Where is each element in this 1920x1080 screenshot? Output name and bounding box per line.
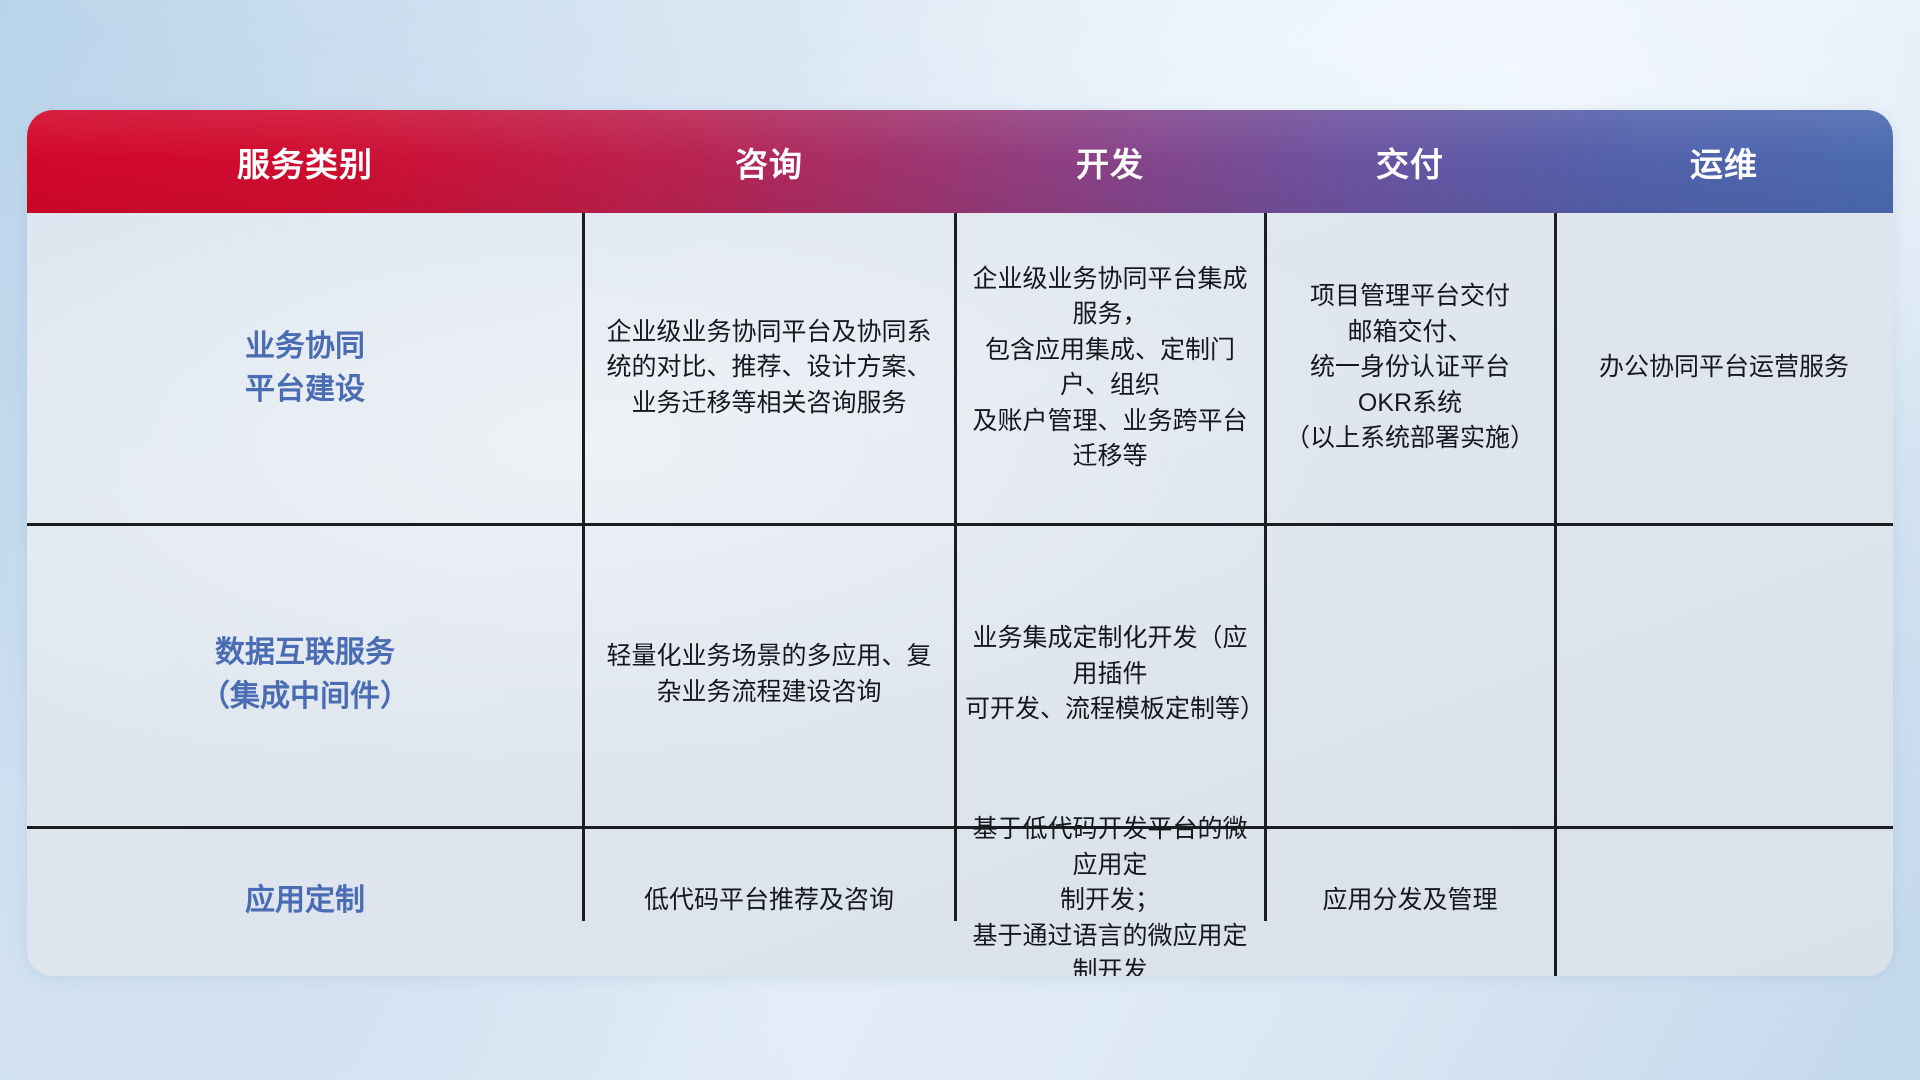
table-body: 业务协同 平台建设企业级业务协同平台及协同系 统的对比、推荐、设计方案、 业务迁… xyxy=(27,213,1893,976)
service-matrix-table: 服务类别咨询开发交付运维 业务协同 平台建设企业级业务协同平台及协同系 统的对比… xyxy=(27,110,1893,976)
row-label-1: 业务协同 平台建设 xyxy=(27,213,583,523)
column-header-delivery: 交付 xyxy=(1265,110,1555,213)
cell-delivery-row3: 应用分发及管理 xyxy=(1265,826,1555,976)
cell-consulting-row2: 轻量化业务场景的多应用、复 杂业务流程建设咨询 xyxy=(583,523,955,826)
column-header-operations: 运维 xyxy=(1555,110,1893,213)
table-header-row: 服务类别咨询开发交付运维 xyxy=(27,110,1893,213)
cell-operations-row1: 办公协同平台运营服务 xyxy=(1555,213,1893,523)
cell-development-row3: 基于低代码开发平台的微应用定 制开发； 基于通过语言的微应用定制开发 xyxy=(955,826,1265,976)
cell-development-row1: 企业级业务协同平台集成服务， 包含应用集成、定制门户、组织 及账户管理、业务跨平… xyxy=(955,213,1265,523)
column-header-development: 开发 xyxy=(955,110,1265,213)
column-header-consulting: 咨询 xyxy=(583,110,955,213)
cell-consulting-row1: 企业级业务协同平台及协同系 统的对比、推荐、设计方案、 业务迁移等相关咨询服务 xyxy=(583,213,955,523)
row-label-2: 数据互联服务 （集成中间件） xyxy=(27,523,583,826)
cell-development-row2: 业务集成定制化开发（应用插件 可开发、流程模板定制等） xyxy=(955,523,1265,826)
column-header-category: 服务类别 xyxy=(27,110,583,213)
row-label-3: 应用定制 xyxy=(27,826,583,976)
cell-consulting-row3: 低代码平台推荐及咨询 xyxy=(583,826,955,976)
cell-delivery-row1: 项目管理平台交付 邮箱交付、 统一身份认证平台 OKR系统 （以上系统部署实施） xyxy=(1265,213,1555,523)
